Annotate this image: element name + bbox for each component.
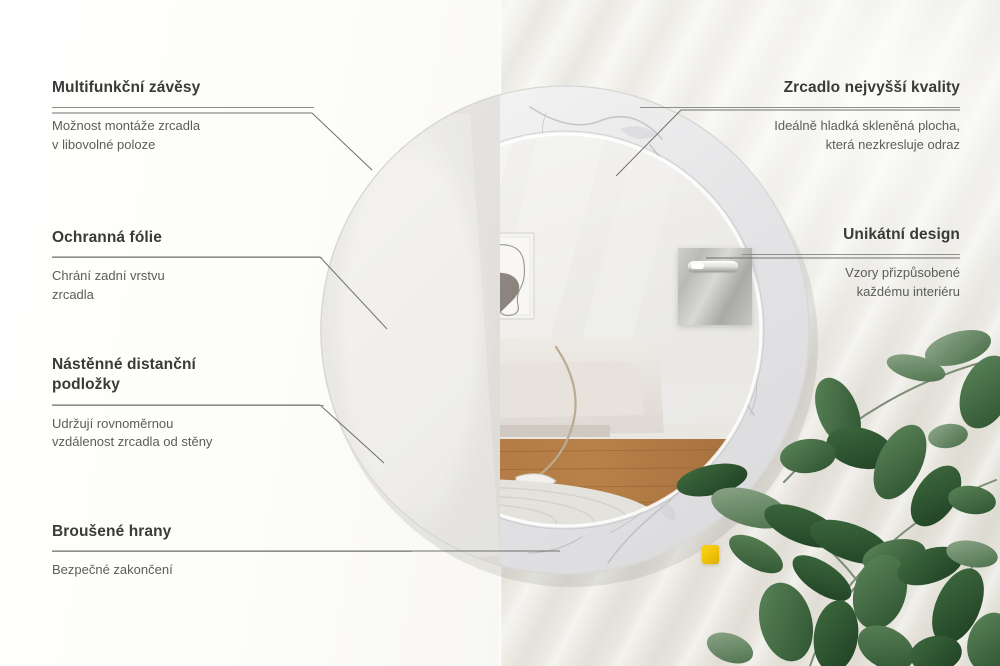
feature-design-desc-line1: Vzory přizpůsobené: [742, 264, 960, 282]
feature-edges-title: Broušené hrany: [52, 522, 412, 542]
feature-quality-desc-line1: Ideálně hladká skleněná plocha,: [640, 117, 960, 135]
feature-quality-title: Zrcadlo nejvyšší kvality: [640, 78, 960, 98]
feature-hangers-title: Multifunkční závěsy: [52, 78, 314, 98]
feature-spacers-rule: [52, 405, 324, 406]
feature-design[interactable]: Unikátní design Vzory přizpůsobené každé…: [742, 225, 960, 301]
plant-leaves-icon: [690, 330, 1000, 666]
feature-spacers-desc-line1: Udržují rovnoměrnou: [52, 415, 324, 433]
feature-foil-desc-line1: Chrání zadní vrstvu: [52, 267, 322, 285]
feature-edges-desc-line1: Bezpečné zakončení: [52, 561, 412, 579]
feature-spacers-desc-line2: vzdálenost zrcadla od stěny: [52, 433, 324, 451]
feature-spacers-title-line2: podložky: [52, 375, 324, 395]
feature-edges-rule: [52, 551, 412, 552]
feature-design-desc-line2: každému interiéru: [742, 283, 960, 301]
feature-foil[interactable]: Ochranná fólie Chrání zadní vrstvu zrcad…: [52, 228, 322, 304]
feature-hangers-desc-line2: v libovolné poloze: [52, 136, 314, 154]
feature-hangers[interactable]: Multifunkční závěsy Možnost montáže zrca…: [52, 78, 314, 154]
feature-hangers-desc-line1: Možnost montáže zrcadla: [52, 117, 314, 135]
feature-hangers-rule: [52, 107, 314, 108]
feature-quality[interactable]: Zrcadlo nejvyšší kvality Ideálně hladká …: [640, 78, 960, 154]
feature-spacers[interactable]: Nástěnné distanční podložky Udržují rovn…: [52, 355, 324, 452]
feature-edges[interactable]: Broušené hrany Bezpečné zakončení: [52, 522, 412, 580]
feature-foil-title: Ochranná fólie: [52, 228, 322, 248]
feature-design-title: Unikátní design: [742, 225, 960, 245]
feature-design-rule: [742, 254, 960, 255]
decorative-plant: [690, 330, 1000, 666]
feature-quality-desc-line2: která nezkresluje odraz: [640, 136, 960, 154]
feature-foil-desc-line2: zrcadla: [52, 286, 322, 304]
feature-spacers-title-line1: Nástěnné distanční: [52, 355, 324, 375]
feature-quality-rule: [640, 107, 960, 108]
infographic-canvas: Multifunkční závěsy Možnost montáže zrca…: [0, 0, 1000, 666]
feature-foil-rule: [52, 257, 322, 258]
